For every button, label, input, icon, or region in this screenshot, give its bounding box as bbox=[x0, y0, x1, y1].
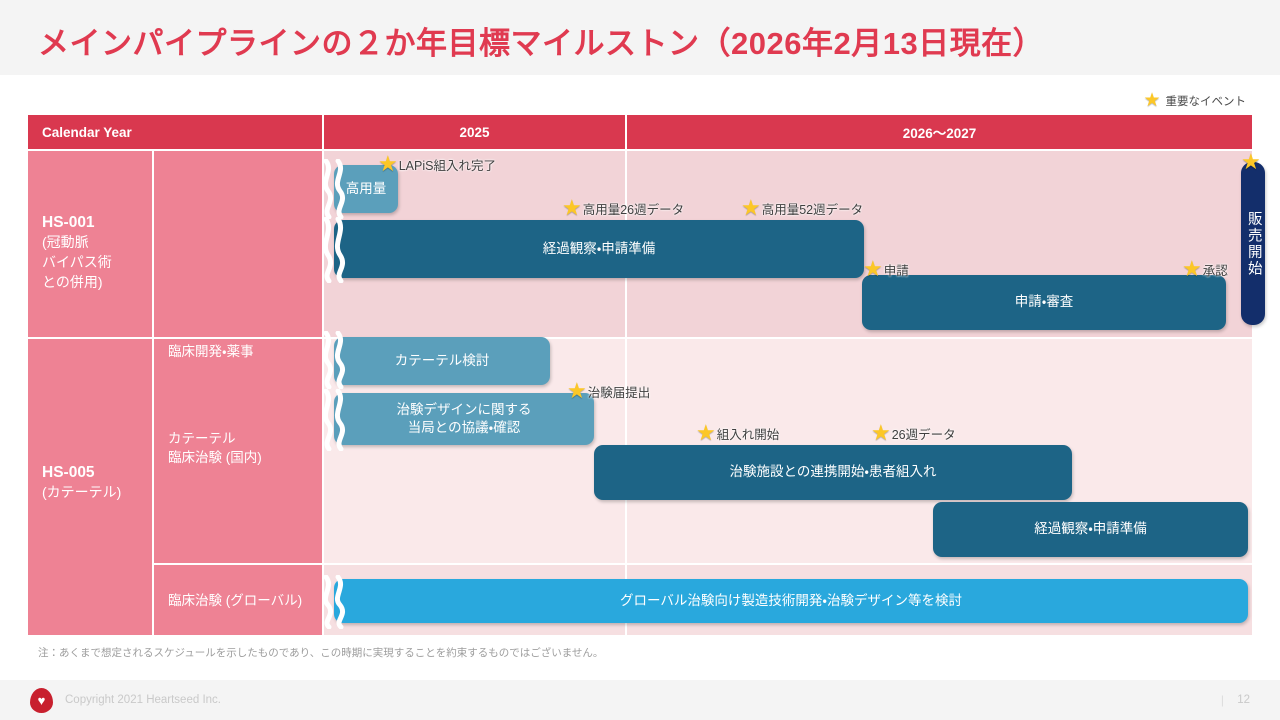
milestone-label-lapis-complete: LAPiS組入れ完了 bbox=[399, 155, 496, 174]
footer-separator: | bbox=[1221, 693, 1224, 707]
subrow-label-hs005-global: 臨床治験 (グローバル) bbox=[154, 592, 322, 611]
program-name-hs005: HS-005 bbox=[42, 463, 152, 483]
header-year-2025: 2025 bbox=[324, 115, 625, 149]
bar-hs001-launch[interactable]: 販売開始 bbox=[1241, 162, 1265, 325]
header-year-2026-2027: 2026〜2027 bbox=[627, 115, 1252, 149]
milestone-label-filing: 申請 bbox=[884, 260, 909, 279]
bar-label-hs005-catheter-eval: カテーテル検討 bbox=[395, 352, 490, 370]
subrow-text-hs005-global: 臨床治験 (グローバル) bbox=[168, 593, 302, 608]
disclaimer-note: 注：あくまで想定されるスケジュールを示したものであり、この時期に実現することを約… bbox=[38, 645, 603, 660]
subrow-label-hs005-domestic: カテーテル臨床治験 (国内) bbox=[154, 430, 322, 467]
milestone-launch-star[interactable]: ★ bbox=[1241, 151, 1262, 173]
bar-hs001-followup[interactable]: 経過観察・申請準備 bbox=[334, 220, 864, 278]
milestone-high-dose-26w[interactable]: ★ 高用量26週データ bbox=[562, 197, 684, 219]
legend-label: 重要なイベント bbox=[1166, 93, 1247, 109]
program-name-hs001: HS-001 bbox=[42, 213, 152, 233]
bar-hs005-catheter-eval[interactable]: カテーテル検討 bbox=[334, 337, 550, 385]
milestone-label-ind-submission: 治験届提出 bbox=[588, 382, 651, 401]
milestone-label-high-dose-52w: 高用量52週データ bbox=[762, 199, 863, 218]
milestone-label-enrollment-start: 組入れ開始 bbox=[717, 424, 780, 443]
footer: ♥ Copyright 2021 Heartseed Inc. | 12 bbox=[0, 680, 1280, 720]
milestone-label-approval: 承認 bbox=[1203, 260, 1228, 279]
bar-hs005-enrollment[interactable]: 治験施設との連携開始・患者組入れ bbox=[594, 445, 1072, 500]
bar-hs005-followup[interactable]: 経過観察・申請準備 bbox=[933, 502, 1248, 557]
milestone-star-icon: ★ bbox=[378, 153, 398, 175]
milestone-label-high-dose-26w: 高用量26週データ bbox=[583, 199, 684, 218]
program-label-hs001: HS-001 (冠動脈バイパス術との併用) bbox=[28, 213, 152, 293]
program-note-hs005: (カテーテル) bbox=[42, 484, 121, 500]
program-note-hs001: (冠動脈バイパス術との併用) bbox=[42, 234, 112, 290]
footer-copyright: Copyright 2021 Heartseed Inc. bbox=[65, 694, 221, 706]
milestone-filing[interactable]: ★ 申請 bbox=[863, 258, 909, 280]
milestone-star-icon: ★ bbox=[567, 380, 587, 402]
subrow-text-hs001-clinical: 臨床開発・薬事 bbox=[168, 344, 254, 359]
page-title: メインパイプラインの２か年目標マイルストン（2026年2月13日現在） bbox=[38, 18, 1044, 63]
heart-icon: ♥ bbox=[38, 694, 46, 707]
heartseed-logo-icon: ♥ bbox=[30, 688, 53, 713]
milestone-star-icon: ★ bbox=[1182, 258, 1202, 280]
bar-label-hs001-launch: 販売開始 bbox=[1243, 211, 1263, 277]
milestone-high-dose-52w[interactable]: ★ 高用量52週データ bbox=[741, 197, 863, 219]
bar-label-hs001-review: 申請・審査 bbox=[1015, 293, 1074, 311]
footer-page-number: 12 bbox=[1237, 694, 1250, 706]
important-event-star-icon: ★ bbox=[1143, 91, 1160, 110]
bar-label-hs005-enrollment: 治験施設との連携開始・患者組入れ bbox=[730, 463, 937, 481]
milestone-star-icon: ★ bbox=[1241, 151, 1261, 173]
row-hs001-subrow-cell bbox=[154, 151, 322, 337]
milestone-star-icon: ★ bbox=[562, 197, 582, 219]
pipeline-timeline-chart: Calendar Year 2025 2026〜2027 HS-001 (冠動脈… bbox=[28, 115, 1252, 635]
bar-label-hs001-high-dose: 高用量 bbox=[346, 180, 387, 198]
milestone-star-icon: ★ bbox=[696, 422, 716, 444]
subrow-text-hs005-domestic: カテーテル臨床治験 (国内) bbox=[168, 431, 262, 465]
milestone-star-icon: ★ bbox=[871, 422, 891, 444]
bar-label-hs005-design-talks: 治験デザインに関する当局との協議・確認 bbox=[397, 401, 532, 437]
bar-global-trial[interactable]: グローバル治験向け製造技術開発・治験デザイン等を検討 bbox=[334, 579, 1248, 623]
milestone-ind-submission[interactable]: ★ 治験届提出 bbox=[567, 380, 650, 402]
milestone-label-data-26w: 26週データ bbox=[892, 424, 956, 443]
bar-label-hs005-followup: 経過観察・申請準備 bbox=[1034, 520, 1147, 538]
subrow-label-hs001-clinical: 臨床開発・薬事 bbox=[154, 343, 322, 362]
bar-hs005-design-talks[interactable]: 治験デザインに関する当局との協議・確認 bbox=[334, 393, 594, 445]
milestone-data-26w[interactable]: ★ 26週データ bbox=[871, 422, 956, 444]
bar-label-hs001-followup: 経過観察・申請準備 bbox=[543, 240, 656, 258]
milestone-star-icon: ★ bbox=[741, 197, 761, 219]
bar-label-global-trial: グローバル治験向け製造技術開発・治験デザイン等を検討 bbox=[620, 592, 962, 610]
title-band: メインパイプラインの２か年目標マイルストン（2026年2月13日現在） bbox=[0, 0, 1280, 75]
milestone-lapis-complete[interactable]: ★ LAPiS組入れ完了 bbox=[378, 153, 496, 175]
header-calendar-year: Calendar Year bbox=[28, 115, 322, 149]
milestone-star-icon: ★ bbox=[863, 258, 883, 280]
program-label-hs005: HS-005 (カテーテル) bbox=[28, 463, 152, 503]
milestone-enrollment-start[interactable]: ★ 組入れ開始 bbox=[696, 422, 779, 444]
bar-hs001-review[interactable]: 申請・審査 bbox=[862, 275, 1226, 330]
legend: ★ 重要なイベント bbox=[1143, 91, 1246, 110]
milestone-approval[interactable]: ★ 承認 bbox=[1182, 258, 1228, 280]
